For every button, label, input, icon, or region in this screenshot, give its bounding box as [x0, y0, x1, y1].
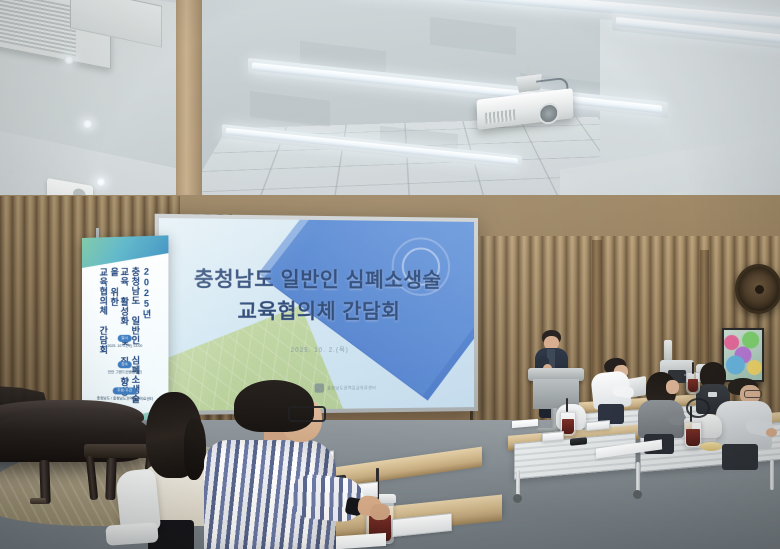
- banner-meta-value: 2025. 10. 2.(목) 13:00: [82, 344, 168, 349]
- piano-leg: [105, 458, 116, 500]
- attendee-foreground-man: [198, 380, 388, 549]
- attendee-laptop-man: [590, 358, 642, 420]
- bag-handle: [686, 398, 710, 418]
- person-face: [666, 380, 679, 394]
- slide-title-line-1: 충청남도 일반인 심폐소생술: [159, 264, 474, 296]
- cup-lid: [560, 408, 576, 413]
- table-caster: [633, 490, 642, 499]
- person-hand: [766, 428, 777, 437]
- cup-lid: [684, 418, 702, 423]
- slide-title-line-2: 교육협의체 간담회: [159, 295, 474, 328]
- spacer: [684, 374, 686, 376]
- table-leg: [636, 462, 640, 492]
- piano-pedal: [30, 498, 46, 504]
- iced-coffee-cup: [684, 420, 702, 448]
- straw: [566, 398, 568, 412]
- smartphone: [570, 437, 587, 445]
- table-caster: [513, 494, 522, 503]
- projector-vent: [485, 109, 515, 124]
- downlight: [96, 178, 106, 186]
- projector-lens: [538, 102, 560, 125]
- eyeglasses: [288, 406, 326, 422]
- banner-meta-tag: 일시: [117, 335, 132, 342]
- slide-title-block: 충청남도 일반인 심폐소생술 교육협의체 간담회: [159, 264, 474, 329]
- coffee-liquid: [686, 429, 700, 446]
- slide-date: 2025. 10. 2.(목): [159, 344, 474, 355]
- table-leg: [516, 470, 520, 496]
- downlight: [64, 56, 74, 64]
- wall-clock-icon: [735, 264, 780, 314]
- person-legs: [722, 444, 758, 470]
- chair-seat: [105, 522, 158, 546]
- seminar-room-photo: 충청남도 일반인 심폐소생술 교육협의체 간담회 2025. 10. 2.(목)…: [0, 0, 780, 549]
- attendee-glasses-man: [716, 378, 780, 470]
- ac-grille: [0, 0, 76, 57]
- eyeglasses: [744, 390, 762, 398]
- bench-leg: [86, 456, 99, 501]
- person-hand: [369, 503, 390, 520]
- snack-plate: [700, 442, 722, 451]
- projector-body: [477, 88, 574, 130]
- water-bottle: [664, 340, 672, 362]
- name-plate: [542, 431, 564, 442]
- banner-meta-value: 천안 그랜드컨벤션센터: [82, 370, 168, 376]
- downlight: [82, 120, 93, 128]
- banner-meta-tag: 장소: [117, 361, 132, 368]
